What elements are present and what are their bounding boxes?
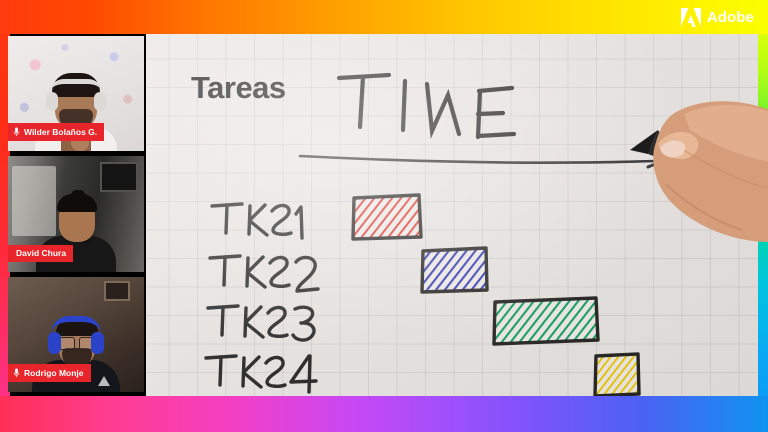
task-label-4 [206, 356, 316, 392]
task-label-2 [210, 256, 318, 291]
adobe-a-mark-icon [681, 8, 701, 27]
frame-gradient-bottom [0, 396, 768, 432]
gantt-bar-task-3 [494, 298, 598, 344]
overlay-title-tareas: Tareas [191, 72, 286, 103]
frame-gradient-top [0, 0, 768, 34]
tile-3-picture-frame-prop [104, 281, 130, 301]
tile-2-monitor-prop [100, 162, 138, 192]
task-label-1 [212, 204, 302, 238]
screenshot-stage: Tareas [0, 0, 768, 432]
gantt-bar-task-4 [595, 354, 639, 396]
microphone-icon [13, 368, 20, 378]
participant-name-3: Rodrigo Monje [24, 369, 84, 378]
adobe-logo-text: Adobe [707, 10, 754, 25]
participant-name-1: Wilder Bolaños G. [24, 128, 97, 137]
participant-video-column: Wilder Bolaños G. David Chura [8, 36, 144, 392]
participant-name-badge-1: Wilder Bolaños G. [8, 123, 104, 141]
frame-gradient-right [758, 0, 768, 432]
participant-tile-3[interactable]: Rodrigo Monje [8, 277, 144, 392]
participant-name-badge-3: Rodrigo Monje [8, 364, 91, 382]
timeline-axis-arrow [300, 150, 665, 167]
participant-name-badge-2: David Chura [8, 245, 73, 262]
microphone-icon [13, 127, 20, 137]
handwritten-time-label [339, 75, 514, 137]
whiteboard-video-feed: Tareas [146, 34, 758, 396]
adobe-logo: Adobe [681, 8, 754, 27]
gantt-bar-task-2 [422, 248, 487, 292]
task-label-3 [208, 306, 314, 340]
participant-tile-2[interactable]: David Chura [8, 156, 144, 271]
participant-name-2: David Chura [16, 249, 66, 258]
gantt-bar-task-1 [353, 195, 421, 239]
participant-tile-1[interactable]: Wilder Bolaños G. [8, 36, 144, 151]
